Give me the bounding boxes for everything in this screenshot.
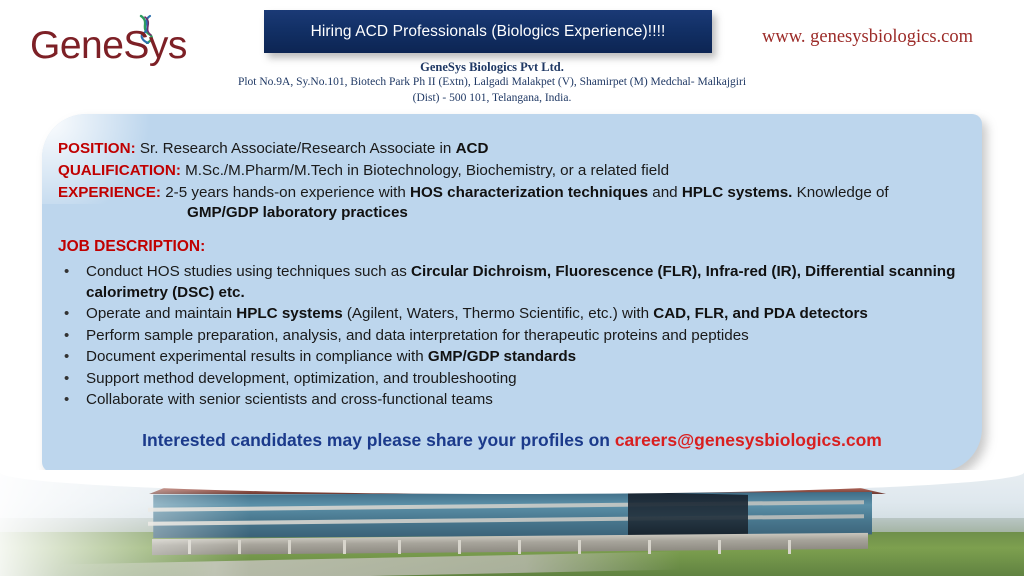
position-value: Sr. Research Associate/Research Associat…: [136, 140, 456, 157]
building-column: [518, 540, 521, 554]
experience-continuation: GMP/GDP laboratory practices: [187, 204, 408, 221]
list-item: • Collaborate with senior scientists and…: [58, 390, 968, 411]
bullet-text-mid: (Agilent, Waters, Thermo Scientific, etc…: [343, 305, 654, 322]
experience-line: EXPERIENCE: 2-5 years hands-on experienc…: [58, 182, 889, 203]
hiring-banner-text: Hiring ACD Professionals (Biologics Expe…: [311, 23, 666, 41]
job-description-heading: JOB DESCRIPTION:: [58, 238, 205, 256]
experience-label: EXPERIENCE:: [58, 184, 161, 201]
cta-text: Interested candidates may please share y…: [142, 430, 615, 450]
bullet-icon: •: [64, 390, 69, 411]
bullet-text-pre: Perform sample preparation, analysis, an…: [86, 327, 749, 344]
bullet-text-bold-2: CAD, FLR, and PDA detectors: [653, 305, 868, 322]
website-url[interactable]: www. genesysbiologics.com: [762, 27, 973, 48]
list-item: • Perform sample preparation, analysis, …: [58, 326, 968, 347]
call-to-action: Interested candidates may please share y…: [42, 430, 982, 451]
hiring-banner: Hiring ACD Professionals (Biologics Expe…: [264, 10, 712, 53]
experience-value: 2-5 years hands-on experience with: [161, 184, 410, 201]
bullet-icon: •: [64, 369, 69, 390]
bullet-text-pre: Conduct HOS studies using techniques suc…: [86, 263, 411, 280]
building-column: [288, 540, 291, 554]
position-line: POSITION: Sr. Research Associate/Researc…: [58, 138, 488, 159]
bullet-text-pre: Support method development, optimization…: [86, 370, 517, 387]
bullet-icon: •: [64, 262, 69, 283]
building-column: [578, 540, 581, 554]
list-item: • Operate and maintain HPLC systems (Agi…: [58, 304, 968, 325]
bullet-icon: •: [64, 347, 69, 368]
building-column: [648, 540, 651, 554]
bullet-text-bold: HPLC systems: [236, 305, 342, 322]
list-item: • Conduct HOS studies using techniques s…: [58, 262, 968, 303]
bullet-icon: •: [64, 304, 69, 325]
list-item: • Document experimental results in compl…: [58, 347, 968, 368]
cta-email-link[interactable]: careers@genesysbiologics.com: [615, 430, 882, 450]
building-column: [343, 540, 346, 554]
building-column: [458, 540, 461, 554]
position-label: POSITION:: [58, 140, 136, 157]
company-address-block: GeneSys Biologics Pvt Ltd. Plot No.9A, S…: [232, 60, 752, 106]
job-description-list: • Conduct HOS studies using techniques s…: [58, 262, 968, 412]
bullet-text-bold: GMP/GDP standards: [428, 348, 576, 365]
bullet-text-pre: Operate and maintain: [86, 305, 236, 322]
company-logo: GeneSys: [22, 12, 222, 74]
qualification-line: QUALIFICATION: M.Sc./M.Pharm/M.Tech in B…: [58, 160, 669, 181]
experience-mid: and: [648, 184, 682, 201]
experience-bold-2: HPLC systems.: [682, 184, 793, 201]
qualification-value: M.Sc./M.Pharm/M.Tech in Biotechnology, B…: [181, 162, 669, 179]
building-dark-wing: [628, 492, 748, 540]
facility-building-photo: [0, 470, 1024, 576]
bullet-text-bold: Circular Dichroism, Fluorescence (FLR), …: [411, 263, 955, 280]
company-name: GeneSys Biologics Pvt Ltd.: [232, 60, 752, 75]
experience-bold-1: HOS characterization techniques: [410, 184, 648, 201]
building-column: [718, 540, 721, 554]
company-address: Plot No.9A, Sy.No.101, Biotech Park Ph I…: [232, 75, 752, 106]
building-column: [398, 540, 401, 554]
position-value-bold: ACD: [456, 140, 489, 157]
job-details-card: POSITION: Sr. Research Associate/Researc…: [42, 114, 982, 472]
experience-post: Knowledge of: [792, 184, 888, 201]
bullet-text-continuation: calorimetry (DSC) etc.: [86, 283, 968, 304]
bullet-text-pre: Document experimental results in complia…: [86, 348, 428, 365]
company-address-line1: Plot No.9A, Sy.No.101, Biotech Park Ph I…: [238, 76, 695, 88]
logo-wordmark: GeneSys: [30, 24, 187, 68]
bullet-icon: •: [64, 326, 69, 347]
building-column: [788, 540, 791, 554]
list-item: • Support method development, optimizati…: [58, 369, 968, 390]
bullet-text-pre: Collaborate with senior scientists and c…: [86, 391, 493, 408]
qualification-label: QUALIFICATION:: [58, 162, 181, 179]
